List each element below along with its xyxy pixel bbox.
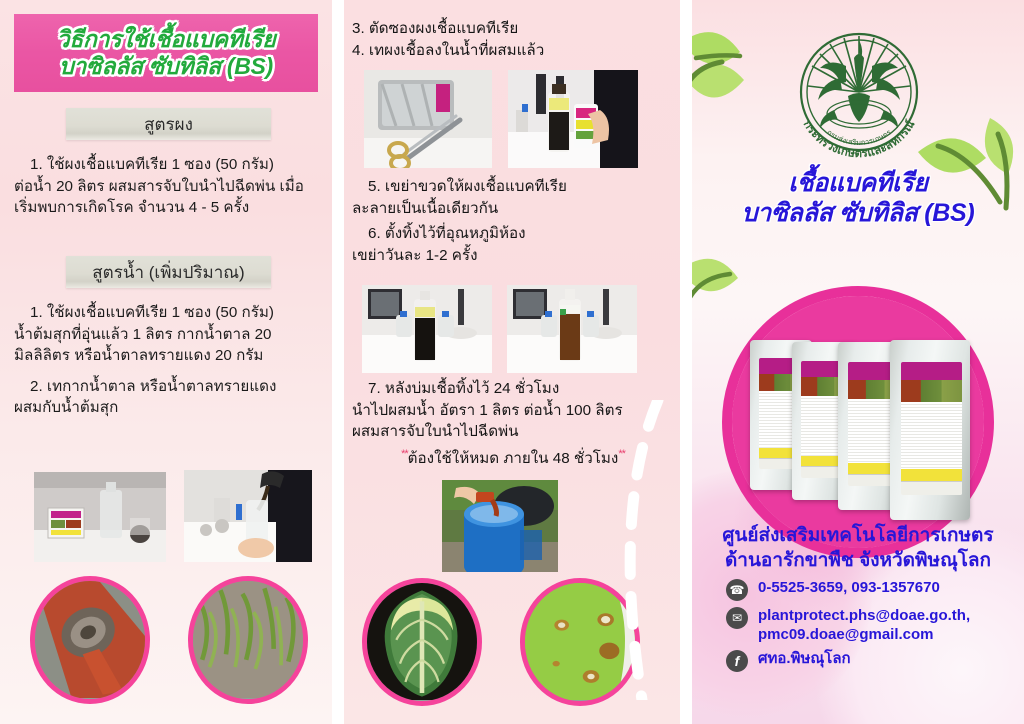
main-title-line1: วิธีการใช้เชื้อแบคทีเรีย — [57, 26, 276, 53]
cabbage-leaf-disease-circle-photo — [362, 578, 482, 706]
step-7-line3: ผสมสารจับใบนำไปฉีดพ่น — [352, 421, 674, 443]
email-text[interactable]: plantprotect.phs@doae.go.th, pmc09.doae@… — [758, 606, 970, 644]
facebook-icon: f — [726, 650, 748, 672]
organization-line1: ศูนย์ส่งเสริมเทคโนโลยีการเกษตร — [692, 524, 1024, 549]
bacteria-sachet-packets — [750, 306, 972, 524]
leaf-decoration-top-left — [692, 18, 794, 148]
facebook-text[interactable]: ศทอ.พิษณุโลก — [758, 649, 851, 668]
powder-formula-tape-label: สูตรผง — [66, 108, 271, 140]
phone-text[interactable]: 0-5525-3659, 093-1357670 — [758, 578, 940, 597]
step-5-line2: ละลายเป็นเนื้อเดียวกัน — [352, 198, 674, 220]
warning-text: ต้องใช้ให้หมด ภายใน 48 ชั่วโมง — [408, 450, 619, 467]
steps-5-6-text: 5. เขย่าขวดให้ผงเชื้อแบคทีเรีย ละลายเป็น… — [352, 176, 674, 266]
liquid-recipe-line4: หรือน้ำตาลทรายแดง 20 กรัม — [74, 347, 263, 364]
contact-row-phone[interactable]: ☎ 0-5525-3659, 093-1357670 — [726, 578, 1016, 601]
packet-label-photos — [901, 380, 962, 401]
ministry-emblem-icon: กรมส่งเสริมการเกษตร กระทรวงเกษตรและสหกรณ… — [784, 14, 934, 164]
product-title-line1: เชื้อแบคทีเรีย — [692, 168, 1024, 198]
liquid-recipe-line6: ผสมกับน้ำต้มสุก — [14, 399, 118, 416]
step-7-line1: 7. หลังบ่มเชื้อทิ้งไว้ 24 ชั่วโมง — [352, 378, 674, 400]
packet-label-header — [901, 362, 962, 381]
blue-drum-mixing-photo — [442, 480, 558, 572]
organization-line2: ด้านอารักขาพืช จังหวัดพิษณุโลก — [692, 549, 1024, 574]
leaf-spot-disease-circle-photo — [520, 578, 640, 706]
step-7-text: 7. หลังบ่มเชื้อทิ้งไว้ 24 ชั่วโมง นำไปผส… — [352, 378, 674, 469]
liquid-recipe-line1: 1. ใช้ผงเชื้อแบคทีเรีย 1 ซอง (50 กรัม) — [14, 302, 320, 324]
packet-label-yellow-band — [901, 469, 962, 481]
liquid-recipe-line5: 2. เทกากน้ำตาล หรือน้ำตาลทรายแดง — [14, 376, 320, 398]
step-5-line1: 5. เขย่าขวดให้ผงเชื้อแบคทีเรีย — [352, 176, 674, 198]
step-4-text: 4. เทผงเชื้อลงในน้ำที่ผสมแล้ว — [352, 40, 674, 62]
packet-label-text — [901, 402, 962, 470]
pouring-molasses-photo — [184, 470, 312, 562]
bottle-and-sachet-photo — [34, 472, 166, 562]
liquid-recipe-line2: น้ำต้มสุกที่อุ่นแล้ว 1 ลิตร — [14, 326, 173, 343]
contact-row-email[interactable]: ✉ plantprotect.phs@doae.go.th, pmc09.doa… — [726, 606, 1016, 644]
liquid-formula-tape-label: สูตรน้ำ (เพิ่มปริมาณ) — [66, 256, 271, 288]
pouring-powder-into-bottle-photo — [508, 70, 638, 168]
powder-recipe-line2: ต่อน้ำ 20 ลิตร ผสมสารจับใบนำไปฉีดพ่น — [14, 178, 275, 195]
contact-row-facebook[interactable]: f ศทอ.พิษณุโลก — [726, 649, 1016, 672]
left-panel: วิธีการใช้เชื้อแบคทีเรีย บาซิลลัส ซับทิล… — [0, 0, 332, 724]
steps-3-4-text: 3. ตัดซองผงเชื้อแบคทีเรีย 4. เทผงเชื้อลง… — [352, 18, 674, 61]
middle-panel: 3. ตัดซองผงเชื้อแบคทีเรีย 4. เทผงเชื้อลง… — [344, 0, 680, 724]
panel-divider-right — [680, 0, 692, 724]
step-3-text: 3. ตัดซองผงเชื้อแบคทีเรีย — [352, 18, 674, 40]
wilted-crop-field-circle-photo — [188, 576, 308, 704]
liquid-recipe-text: 1. ใช้ผงเชื้อแบคทีเรีย 1 ซอง (50 กรัม) น… — [14, 302, 320, 419]
diseased-stem-circle-photo — [30, 576, 150, 704]
step-6-line2: เขย่าวันละ 1-2 ครั้ง — [352, 245, 674, 267]
phone-icon: ☎ — [726, 579, 748, 601]
powder-formula-text: สูตรผง — [144, 111, 193, 138]
contact-list: ☎ 0-5525-3659, 093-1357670 ✉ plantprotec… — [726, 578, 1016, 677]
powder-recipe-text: 1. ใช้ผงเชื้อแบคทีเรีย 1 ซอง (50 กรัม) ต… — [14, 154, 320, 219]
step-7-line2: นำไปผสมน้ำ อัตรา 1 ลิตร ต่อน้ำ 100 ลิตร — [352, 400, 674, 422]
liquid-formula-text: สูตรน้ำ (เพิ่มปริมาณ) — [92, 259, 244, 286]
step-6-line1: 6. ตั้งทิ้งไว้ที่อุณหภูมิห้อง — [352, 223, 674, 245]
foil-sachet-scissors-photo — [364, 70, 492, 168]
brochure-page: วิธีการใช้เชื้อแบคทีเรีย บาซิลลัส ซับทิล… — [0, 0, 1024, 724]
dark-bottle-before-photo — [362, 285, 492, 373]
product-title: เชื้อแบคทีเรีย บาซิลลัส ซับทิลิส (BS) — [692, 168, 1024, 228]
main-title-line2: บาซิลลัส ซับทิลิส (BS) — [59, 53, 273, 80]
right-panel: กรมส่งเสริมการเกษตร กระทรวงเกษตรและสหกรณ… — [692, 0, 1024, 724]
organization-name: ศูนย์ส่งเสริมเทคโนโลยีการเกษตร ด้านอารัก… — [692, 524, 1024, 573]
main-title-banner: วิธีการใช้เชื้อแบคทีเรีย บาซิลลัส ซับทิล… — [14, 14, 318, 92]
usage-warning: **ต้องใช้ให้หมด ภายใน 48 ชั่วโมง** — [352, 447, 674, 470]
panel-divider-left — [332, 0, 344, 724]
brown-bottle-after-photo — [507, 285, 637, 373]
product-title-line2: บาซิลลัส ซับทิลิส (BS) — [692, 198, 1024, 228]
packet-4 — [890, 340, 970, 520]
email-icon: ✉ — [726, 607, 748, 629]
packet-4-label — [901, 362, 962, 495]
packet-label-footer — [901, 481, 962, 494]
powder-recipe-line1: 1. ใช้ผงเชื้อแบคทีเรีย 1 ซอง (50 กรัม) — [14, 154, 320, 176]
warning-star-right: ** — [618, 448, 625, 460]
